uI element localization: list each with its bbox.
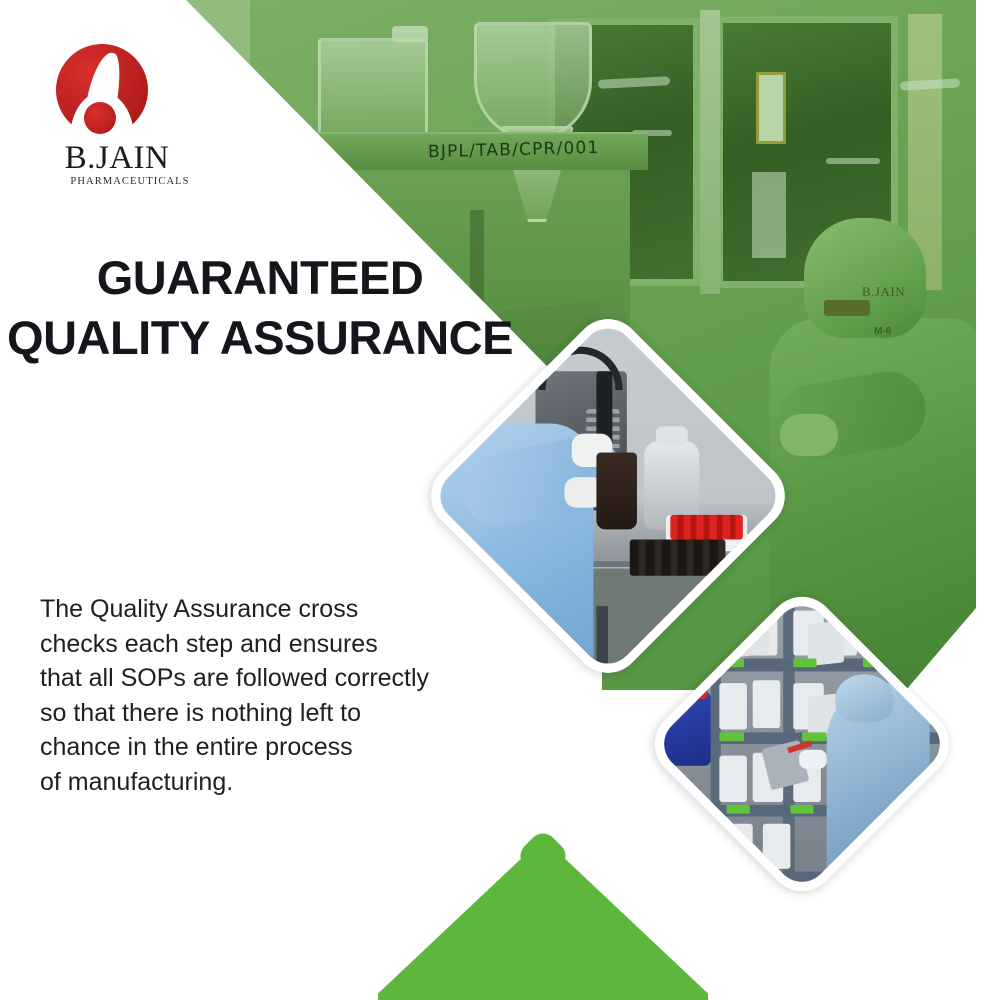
page-title: GUARANTEED QUALITY ASSURANCE <box>0 248 520 368</box>
shelf-label <box>802 732 826 741</box>
body-line-1: The Quality Assurance cross <box>40 592 520 627</box>
machine-brand-badge <box>212 140 278 160</box>
bench-leg <box>597 606 608 672</box>
shelf-label <box>720 659 744 668</box>
stock-container <box>720 683 747 729</box>
shelf-label <box>720 732 744 741</box>
body-line-4: so that there is nothing left to <box>40 696 520 731</box>
shelf-label <box>726 805 750 814</box>
logo-dot <box>84 102 116 134</box>
poster-canvas: BJPL/TAB/CPR/001 B.JAIN M-6 B.JAIN PHARM… <box>0 0 1000 1000</box>
brand-logo: B.JAIN PHARMACEUTICALS <box>42 44 192 187</box>
brand-name: B.JAIN <box>42 142 192 175</box>
container-neck <box>655 427 688 445</box>
brand-tagline: PHARMACEUTICALS <box>42 176 192 187</box>
red-caps <box>670 514 743 540</box>
rack-shelf <box>654 872 951 884</box>
filled-vials <box>630 540 725 577</box>
blue-drum <box>659 692 711 765</box>
operator-hood <box>835 674 893 723</box>
stock-container <box>723 823 753 869</box>
stock-container <box>720 756 747 802</box>
bjain-flame-mark-icon <box>56 44 160 136</box>
body-line-6: of manufacturing. <box>40 765 520 800</box>
body-line-5: chance in the entire process <box>40 730 520 765</box>
shelf-label <box>793 659 817 668</box>
stock-container <box>753 680 780 729</box>
headline-line-2: QUALITY ASSURANCE <box>0 308 520 368</box>
stock-container <box>762 823 789 869</box>
body-line-2: checks each step and ensures <box>40 627 520 662</box>
operator-glove <box>799 750 826 768</box>
headline-line-1: GUARANTEED <box>0 248 520 308</box>
amber-bottle <box>597 452 637 529</box>
body-line-3: that all SOPs are followed correctly <box>40 661 520 696</box>
shelf-label <box>790 805 814 814</box>
body-paragraph: The Quality Assurance cross checks each … <box>40 592 520 799</box>
